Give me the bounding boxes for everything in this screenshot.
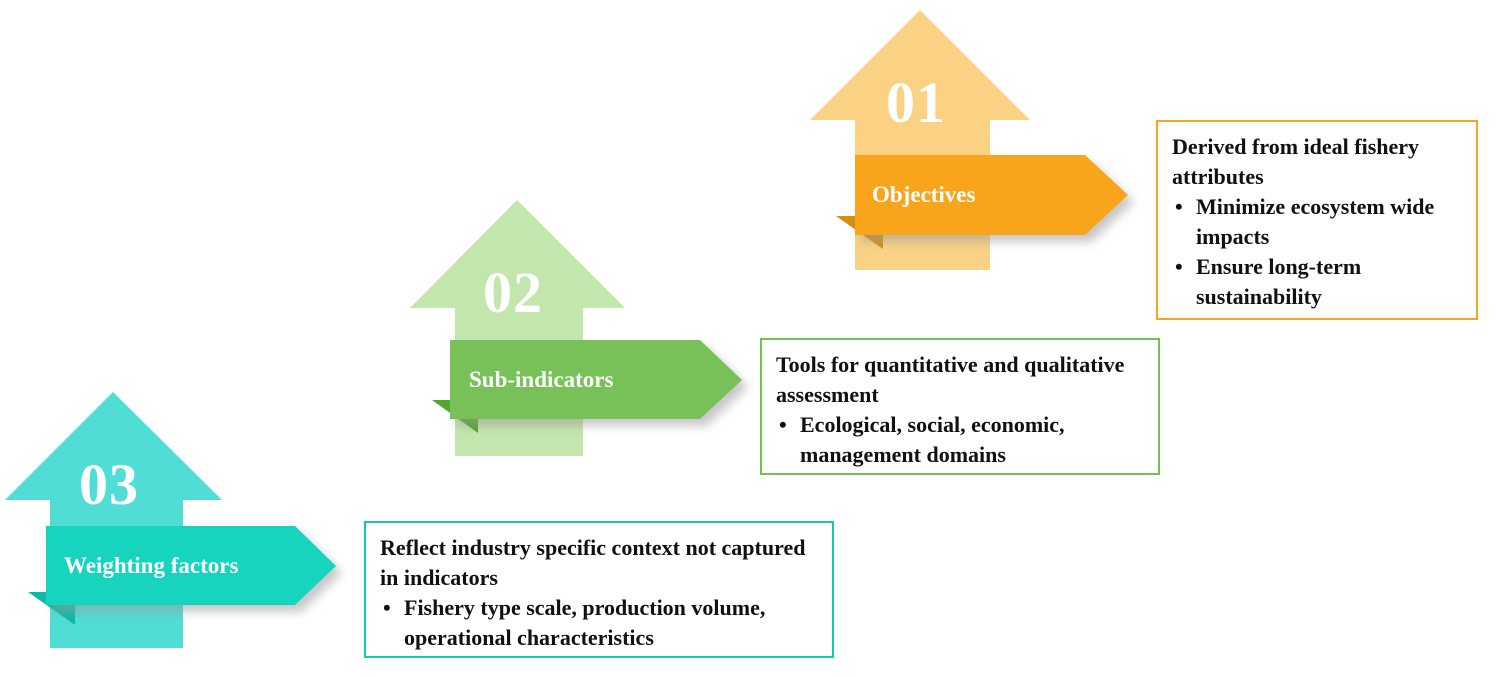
step-03-up-arrow — [5, 392, 222, 648]
bullet-icon: • — [1175, 252, 1183, 282]
step-01-fold-corner — [836, 216, 883, 249]
step-02-number: 02 — [483, 264, 543, 322]
step-02-fold-corner — [432, 400, 478, 433]
bullet-icon: • — [779, 410, 787, 440]
step-01-number: 01 — [886, 74, 946, 132]
bullet-icon: • — [383, 593, 391, 623]
diagram-canvas: 01 Objectives Derived from ideal fishery… — [0, 0, 1500, 677]
info-box-subindicators-lead: Tools for quantitative and qualitative a… — [776, 350, 1146, 410]
step-01-up-arrow — [810, 10, 1030, 270]
step-01-banner-label[interactable]: Objectives — [872, 183, 975, 206]
step-02-up-arrow — [410, 200, 625, 456]
list-item: •Ensure long-term sustainability — [1172, 252, 1464, 312]
list-item: •Fishery type scale, production volume, … — [380, 593, 820, 653]
step-02-banner-label[interactable]: Sub-indicators — [469, 368, 613, 391]
list-item-text: Ensure long-term sustainability — [1196, 254, 1361, 309]
info-box-objectives-bullets: •Minimize ecosystem wide impacts •Ensure… — [1172, 192, 1464, 312]
step-03-banner-label[interactable]: Weighting factors — [64, 554, 238, 577]
info-box-weighting-factors: Reflect industry specific context not ca… — [364, 521, 834, 658]
step-01-arrow-group — [810, 10, 1128, 270]
info-box-weighting-lead: Reflect industry specific context not ca… — [380, 533, 820, 593]
info-box-weighting-bullets: •Fishery type scale, production volume, … — [380, 593, 820, 653]
list-item-text: Fishery type scale, production volume, o… — [404, 595, 765, 650]
info-box-subindicators: Tools for quantitative and qualitative a… — [760, 338, 1160, 475]
step-02-arrow-group — [410, 200, 742, 456]
step-03-arrow-group — [5, 392, 336, 648]
step-03-number: 03 — [79, 456, 139, 514]
list-item: •Minimize ecosystem wide impacts — [1172, 192, 1464, 252]
list-item: •Ecological, social, economic, managemen… — [776, 410, 1146, 470]
step-03-fold-corner — [28, 592, 75, 625]
info-box-objectives: Derived from ideal fishery attributes •M… — [1156, 120, 1478, 320]
list-item-text: Minimize ecosystem wide impacts — [1196, 194, 1434, 249]
list-item-text: Ecological, social, economic, management… — [800, 412, 1065, 467]
info-box-subindicators-bullets: •Ecological, social, economic, managemen… — [776, 410, 1146, 470]
info-box-objectives-lead: Derived from ideal fishery attributes — [1172, 132, 1464, 192]
bullet-icon: • — [1175, 192, 1183, 222]
